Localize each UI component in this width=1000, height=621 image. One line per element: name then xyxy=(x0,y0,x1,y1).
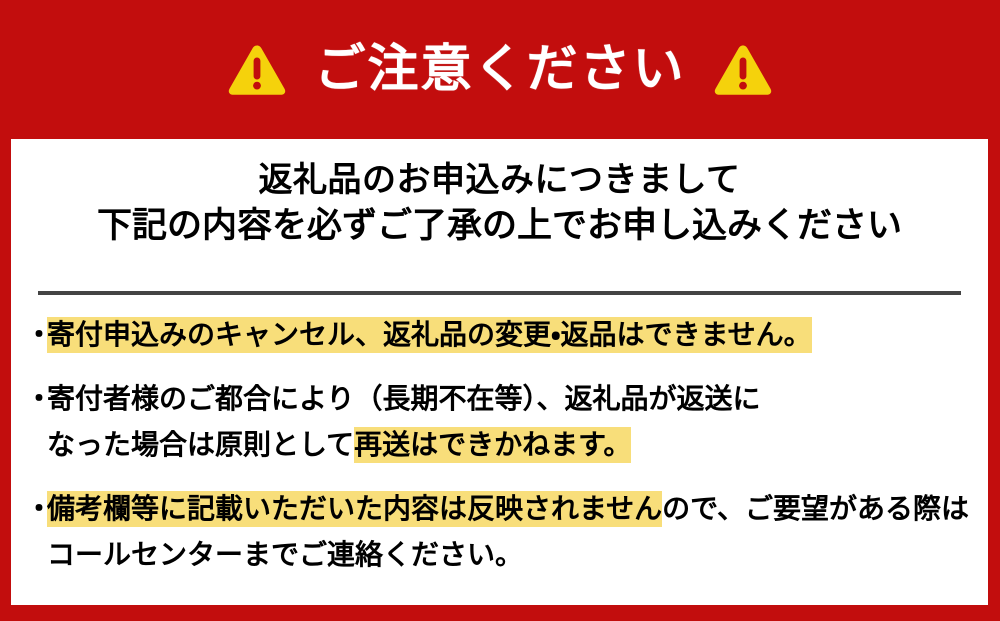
list-item-line: なった場合は原則として再送はできかねます。 xyxy=(47,422,980,468)
list-item: ・備考欄等に記載いただいた内容は反映されませんので、ご要望がある際はコールセンタ… xyxy=(25,486,980,578)
page-title: ご注意ください xyxy=(314,44,685,95)
subtitle-line-2: 下記の内容を必ずご了承の上でお申し込みください xyxy=(11,203,988,251)
subtitle-block: 返礼品のお申込みにつきまして 下記の内容を必ずご了承の上でお申し込みください xyxy=(11,139,988,251)
list-item-line: 備考欄等に記載いただいた内容は反映されませんので、ご要望がある際は xyxy=(47,486,980,532)
plain-text: コールセンターまでご連絡ください。 xyxy=(47,538,523,571)
list-item-line: 寄付者様のご都合により（長期不在等）、返礼品が返送に xyxy=(47,376,980,422)
highlighted-text: 寄付申込みのキャンセル、返礼品の変更・返品はできません。 xyxy=(47,317,812,353)
subtitle-line-1: 返礼品のお申込みにつきまして xyxy=(11,157,988,203)
warning-triangle-icon xyxy=(712,42,774,98)
section-divider xyxy=(38,291,961,295)
list-item-line: 寄付申込みのキャンセル、返礼品の変更・返品はできません。 xyxy=(47,312,980,358)
bullet-mark: ・ xyxy=(25,376,47,422)
list-item-line: コールセンターまでご連絡ください。 xyxy=(47,532,980,578)
bullet-mark: ・ xyxy=(25,312,47,358)
notice-bullet-list: ・寄付申込みのキャンセル、返礼品の変更・返品はできません。・寄付者様のご都合によ… xyxy=(25,312,980,596)
list-item: ・寄付申込みのキャンセル、返礼品の変更・返品はできません。 xyxy=(25,312,980,358)
warning-triangle-icon xyxy=(226,42,288,98)
list-item-text: 寄付者様のご都合により（長期不在等）、返礼品が返送になった場合は原則として再送は… xyxy=(47,376,980,468)
notice-content-panel: 返礼品のお申込みにつきまして 下記の内容を必ずご了承の上でお申し込みください ・… xyxy=(11,139,988,605)
list-item-text: 寄付申込みのキャンセル、返礼品の変更・返品はできません。 xyxy=(47,312,980,358)
header-banner: ご注意ください xyxy=(0,0,1000,139)
list-item-text: 備考欄等に記載いただいた内容は反映されませんので、ご要望がある際はコールセンター… xyxy=(47,486,980,578)
notice-banner-image: ご注意ください 返礼品のお申込みにつきまして 下記の内容を必ずご了承の上でお申し… xyxy=(0,0,1000,621)
plain-text: なった場合は原則として xyxy=(47,428,354,461)
bullet-mark: ・ xyxy=(25,486,47,532)
highlighted-text: 再送はできかねます。 xyxy=(354,427,631,463)
plain-text: ので、ご要望がある際は xyxy=(662,492,969,525)
plain-text: 寄付者様のご都合により（長期不在等）、返礼品が返送に xyxy=(47,382,760,415)
list-item: ・寄付者様のご都合により（長期不在等）、返礼品が返送になった場合は原則として再送… xyxy=(25,376,980,468)
highlighted-text: 備考欄等に記載いただいた内容は反映されません xyxy=(47,491,662,527)
